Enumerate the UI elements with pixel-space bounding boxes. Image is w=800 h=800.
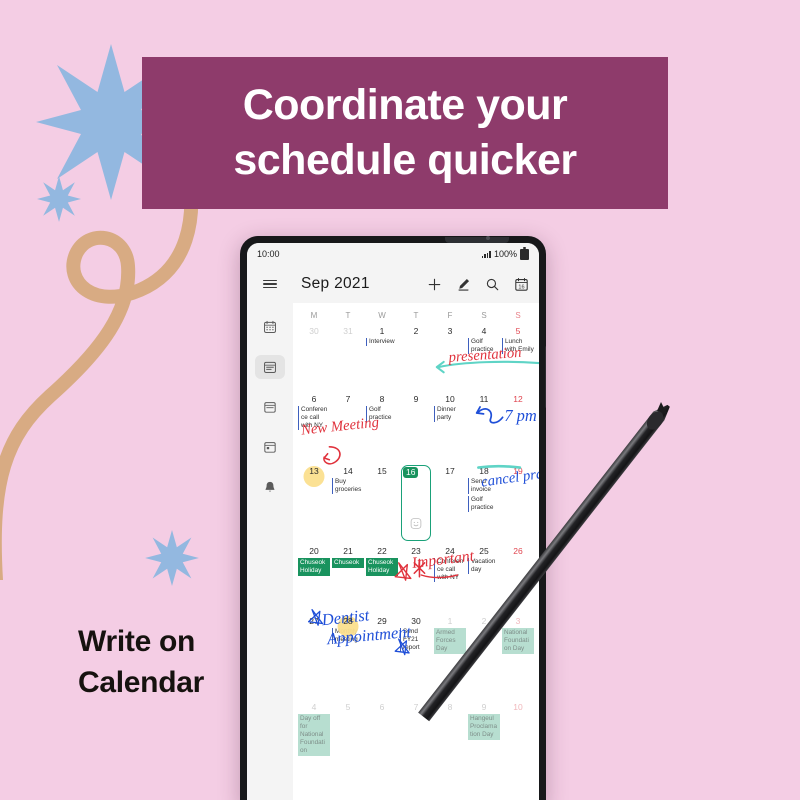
calendar-today-icon[interactable]: 16 [514, 277, 529, 292]
calendar-day-cell[interactable]: 16 [399, 465, 433, 545]
calendar-day-cell[interactable]: 28Monthly meeting [331, 615, 365, 701]
calendar-event[interactable]: Dinner party [434, 406, 466, 422]
caption-line-2: Calendar [78, 663, 204, 704]
headline-line-2: schedule quicker [233, 133, 576, 188]
calendar-day-cell[interactable]: 20Chuseok Holiday [297, 545, 331, 615]
calendar-day-cell[interactable]: 2 [467, 615, 501, 701]
calendar-day-cell[interactable]: 21Chuseok [331, 545, 365, 615]
calendar-event[interactable]: Lunch with Emily [502, 338, 534, 354]
calendar-event[interactable]: Chuseok Holiday [298, 558, 330, 576]
day-number: 7 [400, 703, 432, 712]
calendar-event[interactable]: Send invoice [468, 478, 500, 494]
calendar-day-cell[interactable]: 1Interview [365, 325, 399, 393]
calendar-event[interactable]: Golf practice [468, 496, 500, 512]
day-number: 5 [332, 703, 364, 712]
calendar-day-cell[interactable]: 14Buy groceries [331, 465, 365, 545]
day-number: 12 [502, 395, 534, 404]
calendar-event[interactable]: Chuseok Holiday [366, 558, 398, 576]
calendar-day-cell[interactable]: 31 [331, 325, 365, 393]
day-of-week-label: M [297, 311, 331, 320]
calendar-day-cell[interactable]: 1Armed Forces Day [433, 615, 467, 701]
device-camera-icon [486, 236, 490, 240]
status-bar: 10:00 100% [247, 243, 539, 265]
calendar-day-cell[interactable]: 18Send invoiceGolf practice [467, 465, 501, 545]
day-number: 30 [298, 327, 330, 336]
battery-full-icon [520, 249, 529, 260]
calendar-week-row: 30311Interview234Golf practice5Lunch wit… [297, 325, 535, 393]
sidebar-item-agenda[interactable] [255, 355, 285, 379]
day-number: 7 [332, 395, 364, 404]
day-of-week-header: MTWTFSS [297, 303, 535, 325]
sidebar-item-week[interactable] [255, 395, 285, 419]
calendar-day-cell[interactable]: 6 [365, 701, 399, 756]
search-icon[interactable] [485, 277, 500, 292]
calendar-day-cell[interactable]: 24Conference call with NY [433, 545, 467, 615]
calendar-event[interactable]: Vacation day [468, 558, 500, 574]
day-number: 4 [468, 327, 500, 336]
day-number: 2 [468, 617, 500, 626]
calendar-week-row: 6Conference call with NY78Golf practice9… [297, 393, 535, 465]
day-number: 1 [434, 617, 466, 626]
day-number: 10 [434, 395, 466, 404]
calendar-event[interactable]: Conference call with NY [434, 558, 466, 582]
day-of-week-label: T [399, 311, 433, 320]
calendar-day-cell[interactable]: 15 [365, 465, 399, 545]
sticker-smiley-icon [410, 517, 423, 535]
caption-line-1: Write on [78, 622, 204, 663]
calendar-day-cell[interactable]: 30Send FY21 report [399, 615, 433, 701]
calendar-day-cell[interactable]: 4Golf practice [467, 325, 501, 393]
calendar-day-cell[interactable]: 17 [433, 465, 467, 545]
calendar-day-cell[interactable]: 8 [433, 701, 467, 756]
day-number: 3 [502, 617, 534, 626]
calendar-day-cell[interactable]: 3 [433, 325, 467, 393]
calendar-day-cell[interactable]: 30 [297, 325, 331, 393]
calendar-day-cell[interactable]: 22Chuseok Holiday [365, 545, 399, 615]
calendar-day-cell[interactable]: 26 [501, 545, 535, 615]
day-number: 5 [502, 327, 534, 336]
signal-bars-icon [482, 251, 491, 258]
day-number: 28 [332, 617, 364, 626]
calendar-day-cell[interactable]: 25Vacation day [467, 545, 501, 615]
calendar-week-row: 2728Monthly meeting2930Send FY21 report1… [297, 615, 535, 701]
status-time: 10:00 [257, 249, 280, 259]
calendar-day-cell[interactable]: 13 [297, 465, 331, 545]
calendar-day-cell[interactable]: 27 [297, 615, 331, 701]
calendar-day-cell[interactable]: 5Lunch with Emily [501, 325, 535, 393]
calendar-event[interactable]: Chuseok [332, 558, 364, 568]
calendar-event[interactable]: Send FY21 report [400, 628, 432, 652]
tablet-device: 10:00 100% Sep 2021 [240, 236, 546, 800]
device-side-button [545, 346, 546, 408]
svg-text:16: 16 [518, 284, 524, 290]
day-number: 13 [298, 467, 330, 476]
calendar-day-cell[interactable]: 9Hangeul Proclamation Day [467, 701, 501, 756]
calendar-week-row: 20Chuseok Holiday21Chuseok22Chuseok Holi… [297, 545, 535, 615]
day-number: 3 [434, 327, 466, 336]
day-number: 15 [366, 467, 398, 476]
day-number: 22 [366, 547, 398, 556]
day-of-week-label: S [467, 311, 501, 320]
calendar-day-cell[interactable]: 11 [467, 393, 501, 465]
plus-icon[interactable] [427, 277, 442, 292]
day-number: 8 [434, 703, 466, 712]
day-number: 26 [502, 547, 534, 556]
day-number: 21 [332, 547, 364, 556]
day-number: 11 [468, 395, 500, 404]
device-screen: 10:00 100% Sep 2021 [247, 243, 539, 800]
decor-swirl-line [0, 150, 250, 580]
calendar-day-cell[interactable]: 8Golf practice [365, 393, 399, 465]
calendar-event[interactable]: National Foundation Day [502, 628, 534, 654]
day-number: 17 [434, 467, 466, 476]
calendar-event[interactable]: Golf practice [366, 406, 398, 422]
day-number: 1 [366, 327, 398, 336]
calendar-day-cell[interactable]: 2 [399, 325, 433, 393]
calendar-event[interactable]: Armed Forces Day [434, 628, 466, 654]
header-actions: 16 [427, 277, 529, 292]
calendar-event[interactable]: Buy groceries [332, 478, 364, 494]
calendar-day-cell[interactable]: 4Day off for National Foundation [297, 701, 331, 756]
day-number: 23 [400, 547, 432, 556]
battery-percent-label: 100% [494, 249, 517, 259]
day-number: 8 [366, 395, 398, 404]
day-number: 20 [298, 547, 330, 556]
calendar-week-row: 4Day off for National Foundation56789Han… [297, 701, 535, 753]
headline-line-1: Coordinate your [243, 78, 568, 133]
calendar-event[interactable]: Conference call with NY [298, 406, 330, 430]
calendar-event[interactable]: Hangeul Proclamation Day [468, 714, 500, 740]
day-number: 9 [400, 395, 432, 404]
day-number: 16 [400, 467, 432, 478]
calendar-day-cell[interactable]: 23 [399, 545, 433, 615]
page-title[interactable]: Sep 2021 [301, 275, 370, 293]
day-number: 19 [502, 467, 534, 476]
calendar-event[interactable]: Golf practice [468, 338, 500, 354]
feature-caption: Write on Calendar [78, 622, 204, 703]
day-of-week-label: W [365, 311, 399, 320]
calendar-event[interactable]: Day off for National Foundation [298, 714, 330, 756]
calendar-grid[interactable]: MTWTFSS 30311Interview234Golf practice5L… [293, 303, 539, 800]
calendar-day-cell[interactable]: 7 [399, 701, 433, 756]
selected-day-number: 16 [403, 467, 418, 478]
calendar-day-cell[interactable]: 7 [331, 393, 365, 465]
day-of-week-label: F [433, 311, 467, 320]
calendar-day-cell[interactable]: 6Conference call with NY [297, 393, 331, 465]
calendar-event[interactable]: Interview [366, 338, 398, 346]
calendar-day-cell[interactable]: 12 [501, 393, 535, 465]
sidebar-item-reminder[interactable] [255, 475, 285, 499]
calendar-weeks: 30311Interview234Golf practice5Lunch wit… [297, 325, 535, 753]
calendar-day-cell[interactable]: 10Dinner party [433, 393, 467, 465]
calendar-day-cell[interactable]: 10 [501, 701, 535, 756]
day-number: 2 [400, 327, 432, 336]
calendar-day-cell[interactable]: 19 [501, 465, 535, 545]
day-number: 6 [298, 395, 330, 404]
day-number: 31 [332, 327, 364, 336]
day-of-week-label: T [331, 311, 365, 320]
app-body: MTWTFSS 30311Interview234Golf practice5L… [247, 303, 539, 800]
day-number: 9 [468, 703, 500, 712]
app-header: Sep 2021 16 [247, 265, 539, 303]
view-switch-rail [247, 303, 293, 800]
day-number: 10 [502, 703, 534, 712]
promo-canvas: Coordinate your schedule quicker Write o… [0, 0, 800, 800]
calendar-week-row: 1314Buy groceries15161718Send invoiceGol… [297, 465, 535, 545]
day-number: 29 [366, 617, 398, 626]
day-number: 6 [366, 703, 398, 712]
day-number: 18 [468, 467, 500, 476]
pen-icon[interactable] [456, 277, 471, 292]
hamburger-menu-icon[interactable] [247, 278, 293, 291]
calendar-day-cell[interactable]: 9 [399, 393, 433, 465]
day-of-week-label: S [501, 311, 535, 320]
sidebar-item-day[interactable] [255, 435, 285, 459]
sidebar-item-month[interactable] [255, 315, 285, 339]
calendar-day-cell[interactable]: 29 [365, 615, 399, 701]
day-number: 27 [298, 617, 330, 626]
day-number: 25 [468, 547, 500, 556]
calendar-day-cell[interactable]: 5 [331, 701, 365, 756]
day-number: 24 [434, 547, 466, 556]
headline-banner: Coordinate your schedule quicker [142, 57, 668, 209]
day-number: 14 [332, 467, 364, 476]
day-number: 4 [298, 703, 330, 712]
day-number: 30 [400, 617, 432, 626]
calendar-day-cell[interactable]: 3National Foundation Day [501, 615, 535, 701]
